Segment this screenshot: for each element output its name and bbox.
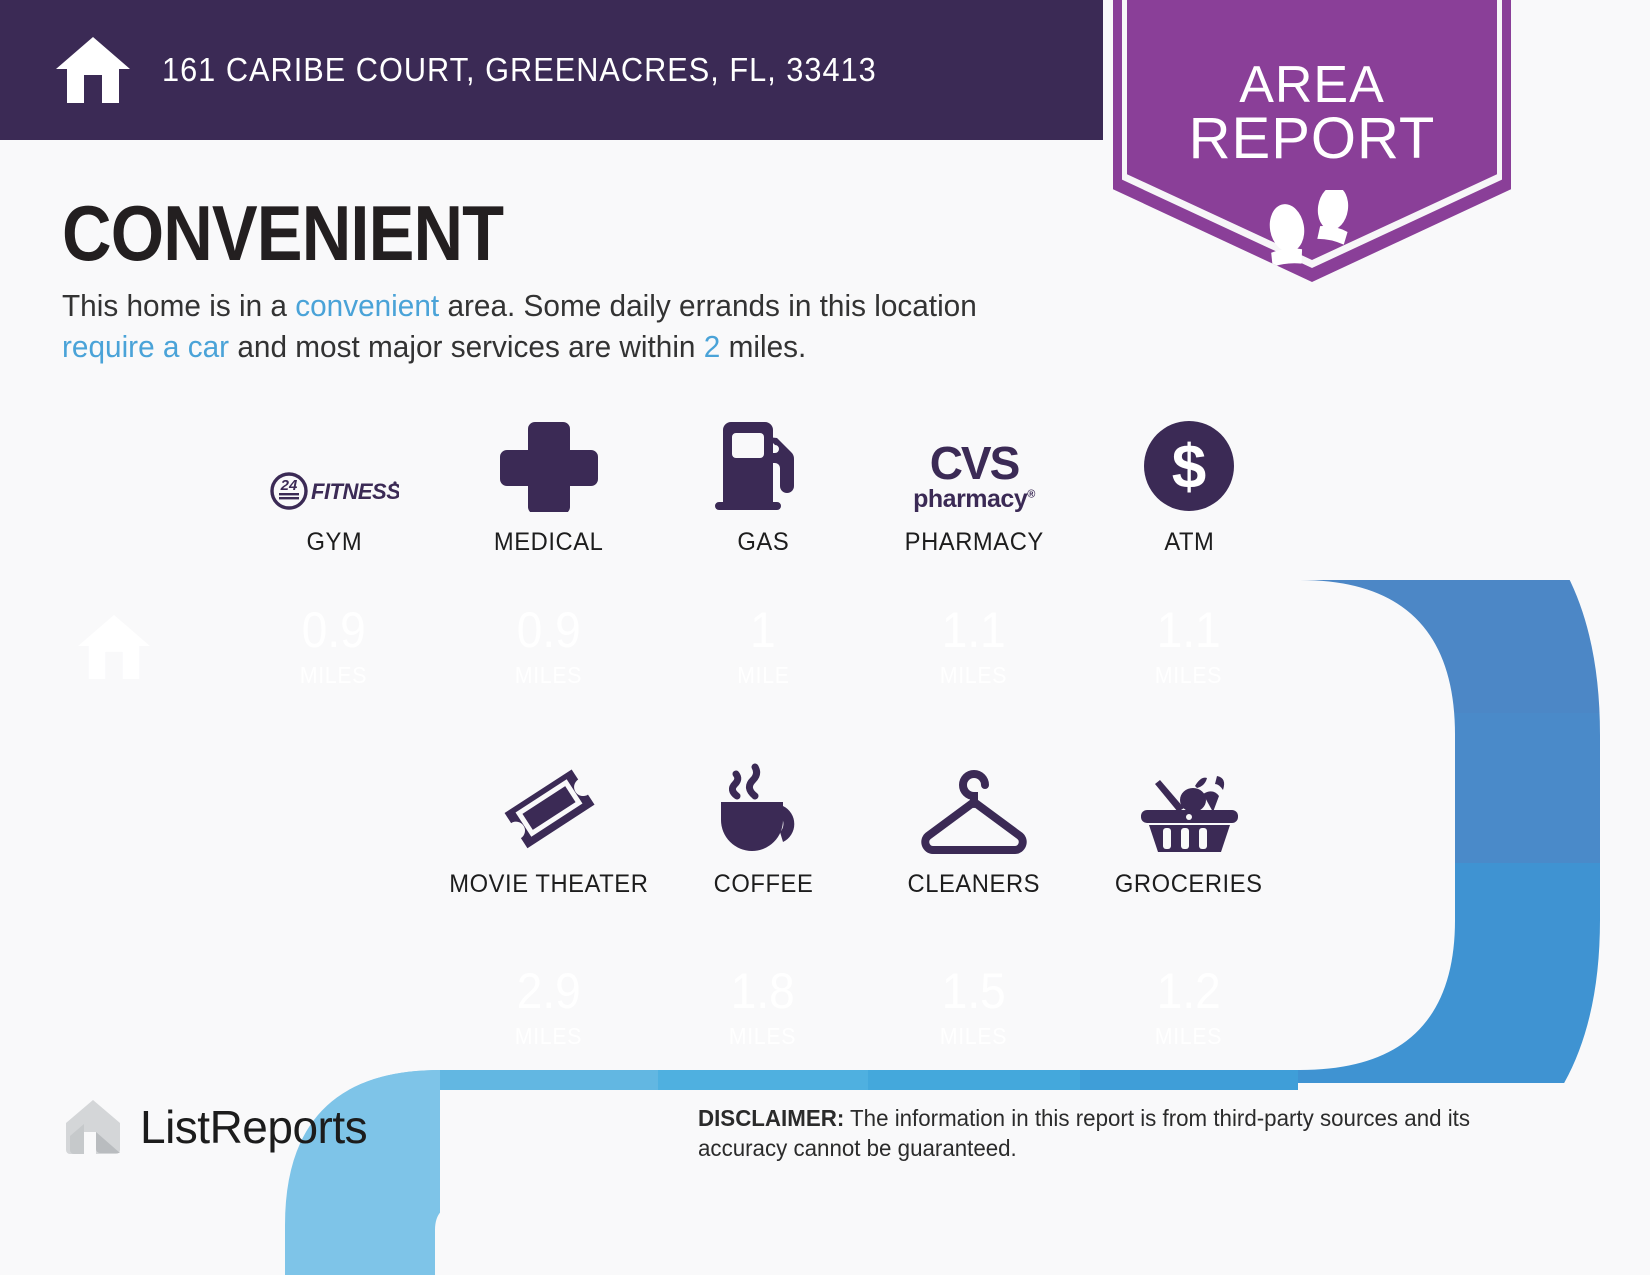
footprints-icon	[1257, 190, 1367, 282]
amenity-movie-theater: MOVIE THEATER	[440, 762, 658, 899]
atm-dollar-icon: $	[1143, 420, 1235, 512]
bar-segment-elbow-upper	[1298, 713, 1650, 863]
distance-value: 1	[750, 605, 776, 655]
distance-value: 0.9	[302, 605, 366, 655]
amenity-label: GAS	[737, 528, 789, 557]
bottom-distance-values: 2.9 MILES 1.8 MILES 1.5 MILES 1.2 MILES	[440, 930, 1298, 1085]
distance-gas: 1 MILE	[658, 580, 868, 713]
home-marker-cell	[0, 580, 228, 713]
amenity-groceries: GROCERIES	[1080, 762, 1298, 899]
distance-unit: MILE	[737, 662, 789, 689]
home-icon	[76, 613, 152, 681]
area-report-badge: AREA REPORT	[1113, 0, 1511, 282]
distance-value: 1.8	[731, 966, 795, 1016]
desc-text-4: miles.	[720, 329, 806, 364]
distance-coffee: 1.8 MILES	[658, 930, 868, 1085]
amenity-label: CLEANERS	[908, 870, 1041, 899]
disclaimer-label: DISCLAIMER:	[698, 1105, 844, 1131]
svg-text:$: $	[1172, 433, 1206, 502]
cvs-pharmacy-logo: CVS pharmacy®	[913, 420, 1035, 512]
amenity-atm: $ ATM	[1080, 420, 1298, 557]
listreports-logo	[62, 1096, 124, 1158]
grocery-basket-icon	[1137, 762, 1242, 854]
amenity-label: COFFEE	[713, 870, 813, 899]
desc-text-1: This home is in a	[62, 288, 295, 323]
distance-unit: MILES	[300, 662, 367, 689]
gas-pump-icon	[711, 420, 816, 512]
medical-cross-icon	[499, 420, 599, 512]
distance-value: 1.1	[1157, 605, 1221, 655]
distance-unit: MILES	[515, 1023, 582, 1050]
header-bar: 161 CARIBE COURT, GREENACRES, FL, 33413	[0, 0, 1103, 140]
home-icon	[54, 35, 132, 105]
distance-value: 2.9	[517, 966, 581, 1016]
distance-value: 1.2	[1157, 966, 1221, 1016]
distance-unit: MILES	[940, 662, 1007, 689]
distance-value: 0.9	[517, 605, 581, 655]
top-icon-row: 24 FITNESS GYM MEDICAL	[228, 420, 1298, 557]
distance-unit: MILES	[515, 662, 582, 689]
area-report-infographic: 161 CARIBE COURT, GREENACRES, FL, 33413 …	[0, 0, 1650, 1275]
desc-text-2: area. Some daily errands in this locatio…	[439, 288, 977, 323]
bar-segment-elbow-top	[1298, 580, 1650, 713]
clothes-hanger-icon	[914, 762, 1034, 854]
desc-highlight-3: 2	[704, 329, 721, 364]
amenity-cleaners: CLEANERS	[868, 762, 1080, 899]
amenity-label: MOVIE THEATER	[449, 870, 648, 899]
coffee-cup-icon	[713, 762, 813, 854]
distance-gym: 0.9 MILES	[228, 580, 440, 713]
desc-highlight-1: convenient	[295, 288, 439, 323]
brand-logo-block: ListReports	[62, 1096, 367, 1158]
bar-segment-tail	[272, 930, 440, 1090]
page-title: CONVENIENT	[62, 188, 503, 279]
amenity-label: ATM	[1164, 528, 1214, 557]
desc-highlight-2: require a car	[62, 329, 229, 364]
distance-unit: MILES	[729, 1023, 796, 1050]
bottom-icon-row: MOVIE THEATER COFFEE CLEANER	[440, 762, 1298, 899]
summary-description: This home is in a convenient area. Some …	[62, 285, 1041, 367]
amenity-medical: MEDICAL	[440, 420, 658, 557]
property-address: 161 CARIBE COURT, GREENACRES, FL, 33413	[162, 51, 877, 89]
bar-segment-elbow-lower	[1298, 863, 1650, 1083]
disclaimer: DISCLAIMER: The information in this repo…	[698, 1103, 1484, 1164]
distance-unit: MILES	[1155, 662, 1222, 689]
amenity-gas: GAS	[658, 420, 868, 557]
brand-name: ListReports	[140, 1100, 367, 1154]
amenity-pharmacy: CVS pharmacy® PHARMACY	[868, 420, 1080, 557]
amenity-gym: 24 FITNESS GYM	[228, 420, 440, 557]
distance-groceries: 1.2 MILES	[1080, 930, 1298, 1085]
distance-cleaners: 1.5 MILES	[868, 930, 1080, 1085]
amenity-label: GYM	[306, 528, 362, 557]
top-distance-values: 0.9 MILES 0.9 MILES 1 MILE 1.1 MILES 1.1…	[0, 580, 1298, 713]
badge-title: AREA REPORT	[1113, 28, 1511, 168]
amenity-label: MEDICAL	[494, 528, 604, 557]
svg-text:24: 24	[280, 477, 298, 494]
badge-line-2: REPORT	[1113, 111, 1511, 168]
distance-value: 1.5	[942, 966, 1006, 1016]
distance-movie-theater: 2.9 MILES	[440, 930, 658, 1085]
amenity-label: PHARMACY	[904, 528, 1043, 557]
distance-value: 1.1	[942, 605, 1006, 655]
distance-atm: 1.1 MILES	[1080, 580, 1298, 713]
distance-pharmacy: 1.1 MILES	[868, 580, 1080, 713]
amenity-coffee: COFFEE	[658, 762, 868, 899]
movie-ticket-icon	[499, 762, 599, 854]
amenity-label: GROCERIES	[1115, 870, 1263, 899]
svg-text:FITNESS: FITNESS	[311, 479, 399, 504]
gym-24-fitness-logo: 24 FITNESS	[269, 420, 399, 512]
distance-medical: 0.9 MILES	[440, 580, 658, 713]
distance-unit: MILES	[1155, 1023, 1222, 1050]
distance-unit: MILES	[940, 1023, 1007, 1050]
desc-text-3: and most major services are within	[229, 329, 704, 364]
